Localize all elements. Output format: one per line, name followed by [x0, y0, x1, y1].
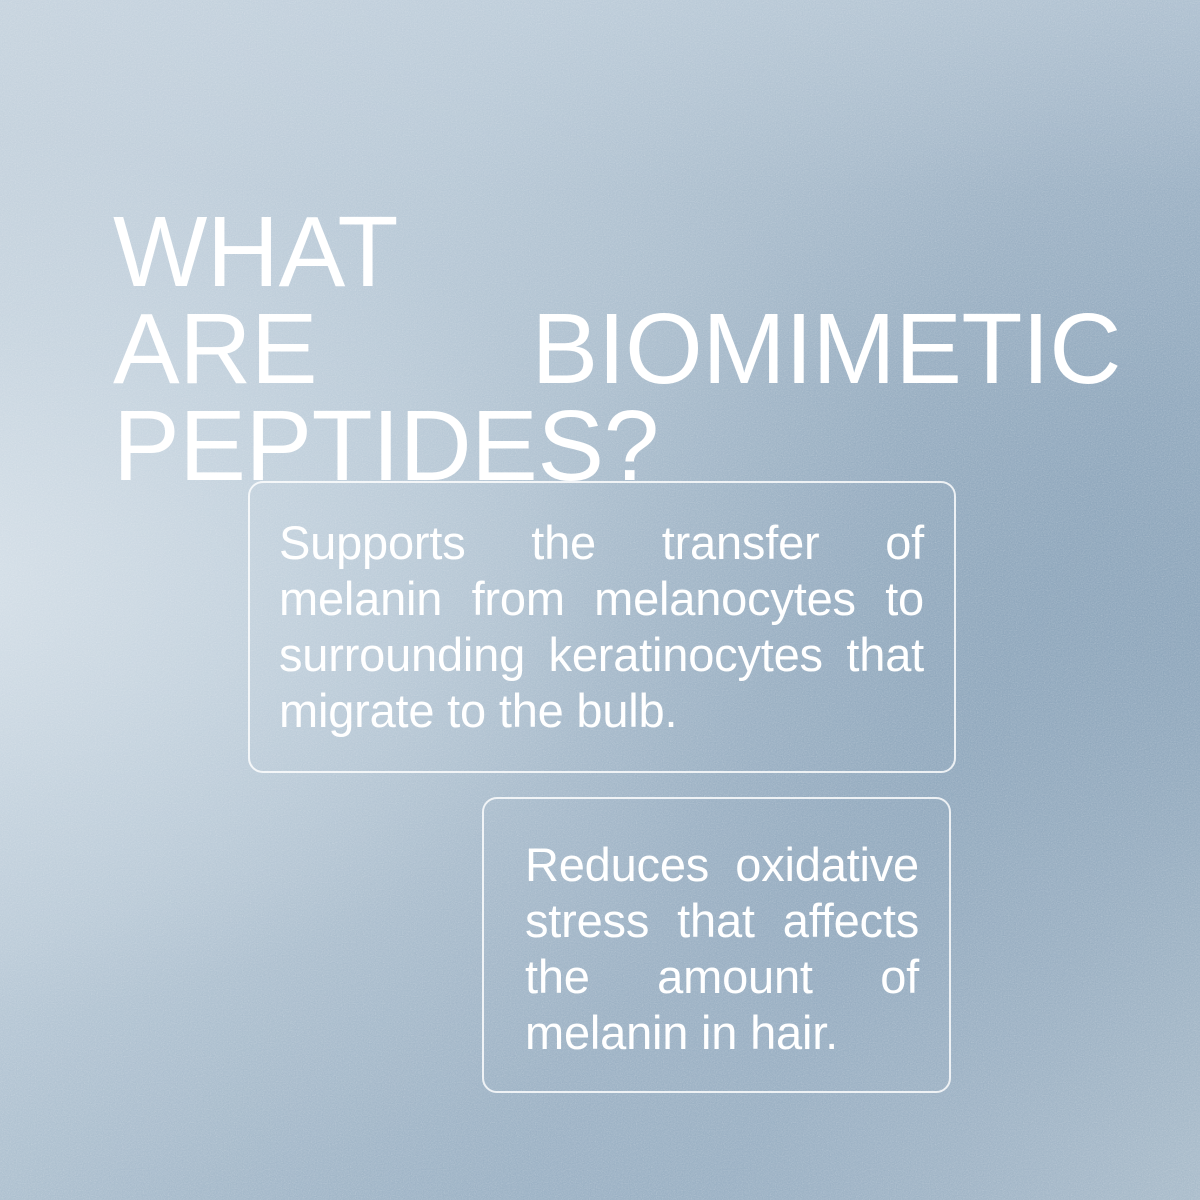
fact-box-2-text: Reduces oxidative stress that affects th…: [525, 838, 919, 1059]
promo-card: WHAT ARE BIOMIMETIC PEPTIDES? Supports t…: [0, 0, 1200, 1200]
fact-box-melanin-transfer: Supports the transfer of melanin from me…: [248, 481, 956, 773]
fact-box-oxidative-stress: Reduces oxidative stress that affects th…: [482, 797, 951, 1093]
page-title: WHAT ARE BIOMIMETIC PEPTIDES?: [113, 204, 1121, 495]
fact-box-1-text: Supports the transfer of melanin from me…: [279, 516, 924, 737]
